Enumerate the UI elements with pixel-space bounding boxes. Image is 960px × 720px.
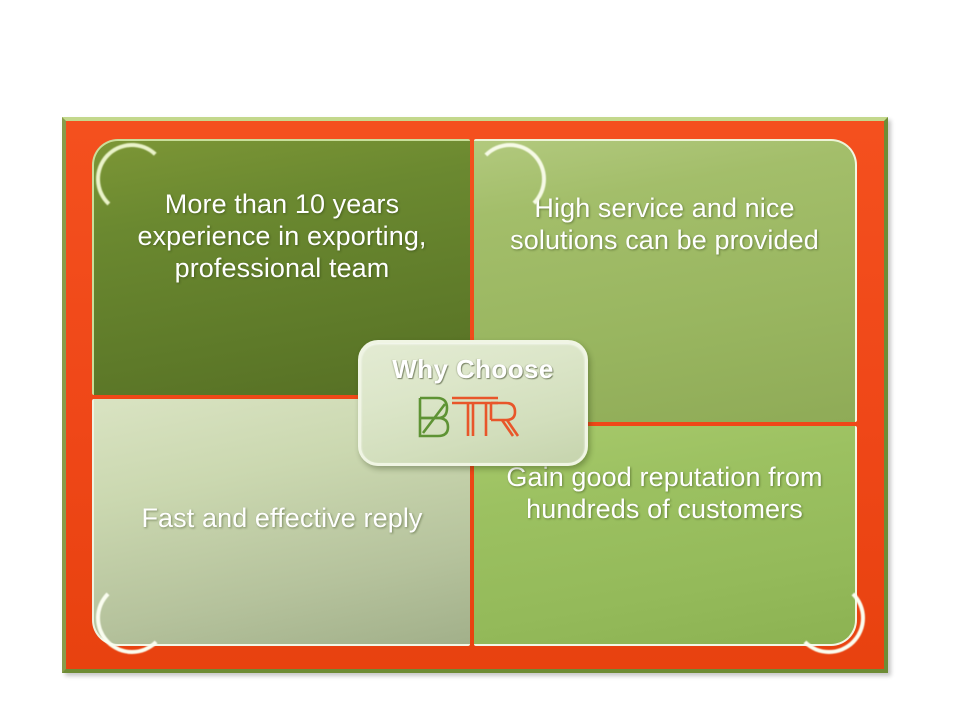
- slide-canvas: More than 10 years experience in exporti…: [0, 0, 960, 720]
- quadrant-experience-label: More than 10 years experience in exporti…: [112, 189, 452, 285]
- quadrant-reputation-label: Gain good reputation from hundreds of cu…: [492, 462, 837, 526]
- btr-logo: BTR: [414, 391, 532, 443]
- btr-logo-icon: [414, 392, 532, 442]
- why-choose-title: Why Choose: [392, 354, 553, 385]
- quadrant-service-label: High service and nice solutions can be p…: [492, 193, 837, 257]
- why-choose-badge[interactable]: Why Choose: [358, 340, 588, 466]
- quadrant-reply-label: Fast and effective reply: [112, 503, 452, 535]
